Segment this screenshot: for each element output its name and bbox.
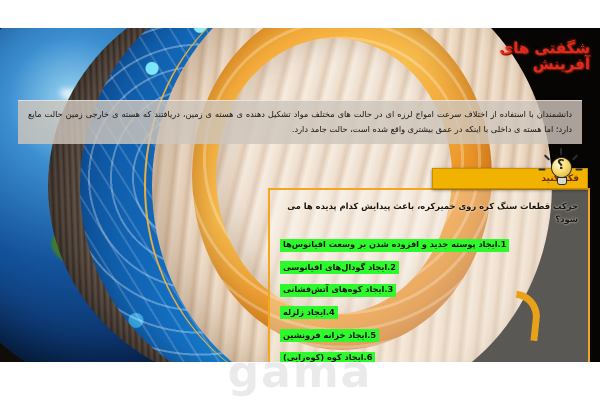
title-line-2: آفرینش <box>499 56 590 72</box>
watermark-text: gama <box>228 347 373 398</box>
answer-list: 1.ایجاد پوسته جدید و افزوده شدن بر وسعت … <box>280 232 578 362</box>
list-item-label: 4.ایجاد زلزله <box>280 306 338 319</box>
top-white-strip <box>0 0 600 28</box>
list-item-label: 3.ایجاد کوه‌های آتش‌فشانی <box>280 284 396 297</box>
slide-root: شگفتی های آفرینش دانشمندان با استفاده از… <box>0 0 600 400</box>
bulb-base <box>557 177 567 185</box>
question-panel: حرکت قطعات سنگ کره روی خمیرکره، باعث پید… <box>268 188 590 362</box>
think-section-header: فکر کنید ؟ <box>432 168 588 189</box>
list-item: 2.ایجاد گودال‌های اقیانوسی <box>280 255 578 274</box>
bulb-question-mark: ؟ <box>557 159 565 172</box>
lightbulb-icon: ؟ <box>545 153 579 189</box>
slide-title: شگفتی های آفرینش <box>499 40 590 72</box>
bulb-ray <box>576 169 583 171</box>
bulb-ray <box>572 154 578 160</box>
list-item-label: 5.ایجاد خزانه فرونشین <box>280 329 379 342</box>
list-item-label: 2.ایجاد گودال‌های اقیانوسی <box>280 261 399 274</box>
bulb-ray <box>544 154 550 160</box>
bulb-ray <box>560 148 562 155</box>
bulb-ray <box>539 169 546 171</box>
list-item: 3.ایجاد کوه‌های آتش‌فشانی <box>280 277 578 296</box>
body-paragraph: دانشمندان با استفاده از اختلاف سرعت اموا… <box>18 100 582 144</box>
slide-stage: شگفتی های آفرینش دانشمندان با استفاده از… <box>0 28 600 362</box>
panel-question-text: حرکت قطعات سنگ کره روی خمیرکره، باعث پید… <box>280 200 578 225</box>
list-item-label: 1.ایجاد پوسته جدید و افزوده شدن بر وسعت … <box>280 239 509 252</box>
list-item: 1.ایجاد پوسته جدید و افزوده شدن بر وسعت … <box>280 232 578 251</box>
